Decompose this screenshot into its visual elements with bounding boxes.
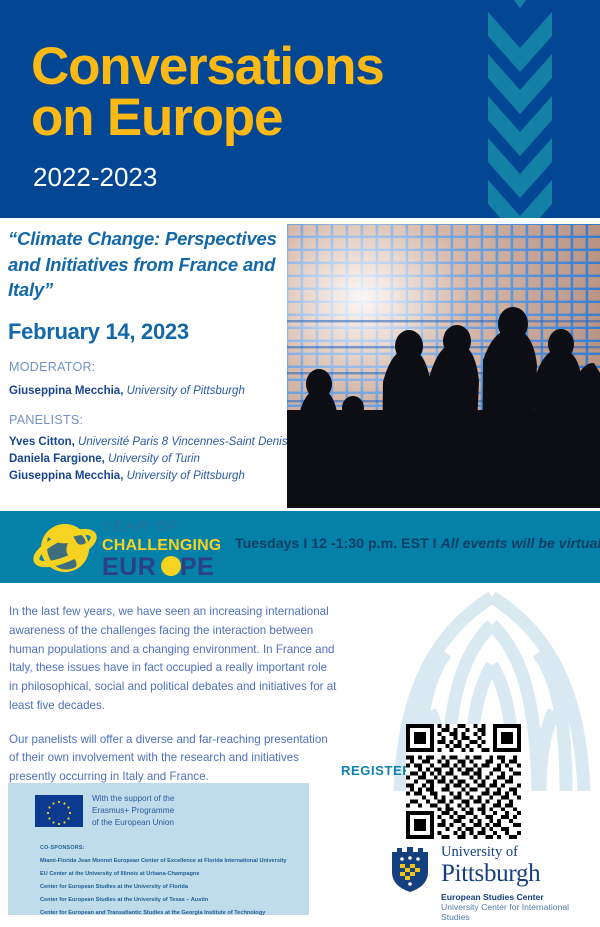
list-item: Giuseppina Mecchia, University of Pittsb… (9, 383, 245, 400)
list-item: Daniela Fargione, University of Turin (9, 451, 287, 468)
pitt-unit-primary: European Studies Center (441, 892, 544, 902)
pitt-shield-icon (389, 847, 431, 893)
paragraph-2: Our panelists will offer a diverse and f… (9, 731, 339, 787)
eu-support-text: With the support of the Erasmus+ Program… (92, 793, 174, 828)
moderator-label: MODERATOR: (9, 360, 96, 374)
pitt-university-of: University of (441, 845, 540, 860)
year-of-challenging-europe-logo: YEAR OF CHALLENGING EUR PE (32, 515, 220, 579)
event-title: “Climate Change: Perspectives and Initia… (8, 226, 288, 303)
description-text: In the last few years, we have seen an i… (9, 603, 339, 802)
event-photo (287, 224, 600, 508)
person-affiliation: Université Paris 8 Vincennes-Saint Denis (78, 436, 287, 448)
list-item: Center for European and Transatlantic St… (40, 907, 302, 920)
person-name: Giuseppina Mecchia, (9, 470, 123, 482)
schedule-note: All events will be virtual (441, 536, 600, 552)
event-title-block: “Climate Change: Perspectives and Initia… (8, 226, 288, 303)
eu-support-line: Erasmus+ Programme (92, 805, 174, 817)
person-name: Daniela Fargione, (9, 453, 105, 465)
schedule-text: Tuesdays I 12 -1:30 p.m. EST I All event… (235, 536, 600, 552)
list-item: Miami-Florida Jean Monnet European Cente… (40, 855, 302, 868)
photo-wall-graphic (287, 224, 600, 508)
person-affiliation: University of Pittsburgh (127, 470, 245, 482)
sponsors-panel: With the support of the Erasmus+ Program… (8, 783, 309, 915)
chevron-down-decoration (484, 0, 556, 218)
logo-line-3: EUR (102, 553, 156, 579)
european-union-flag-icon (35, 795, 83, 827)
person-affiliation: University of Pittsburgh (127, 385, 245, 397)
person-name: Giuseppina Mecchia, (9, 385, 123, 397)
schedule-banner: YEAR OF CHALLENGING EUR PE Tuesdays I 12… (0, 511, 600, 583)
list-item: Center for European Studies at the Unive… (40, 881, 302, 894)
person-name: Yves Citton, (9, 436, 75, 448)
moderator-list: Giuseppina Mecchia, University of Pittsb… (9, 383, 245, 400)
cosponsors-list: Miami-Florida Jean Monnet European Cente… (40, 855, 302, 920)
register-qr-code[interactable] (406, 724, 521, 839)
university-of-pittsburgh-logo: University of Pittsburgh European Studie… (389, 845, 595, 915)
event-date: February 14, 2023 (8, 319, 189, 345)
page-title: Conversations on Europe (31, 42, 471, 144)
logo-line-1: YEAR OF (102, 518, 179, 535)
list-item: Yves Citton, Université Paris 8 Vincenne… (9, 434, 287, 451)
paragraph-1: In the last few years, we have seen an i… (9, 603, 339, 716)
panelists-list: Yves Citton, Université Paris 8 Vincenne… (9, 434, 287, 485)
svg-text:PE: PE (180, 553, 214, 579)
pitt-unit-secondary: University Center for International Stud… (441, 902, 595, 922)
list-item: Center for European Studies at the Unive… (40, 894, 302, 907)
register-label: REGISTER (341, 763, 412, 778)
season-years: 2022-2023 (33, 162, 157, 193)
title-line-2: on Europe (31, 93, 471, 144)
panelists-label: PANELISTS: (9, 413, 83, 427)
schedule-bold: Tuesdays I 12 -1:30 p.m. EST I (235, 536, 441, 552)
list-item: Giuseppina Mecchia, University of Pittsb… (9, 468, 287, 485)
event-details-section: “Climate Change: Perspectives and Initia… (0, 218, 600, 508)
eu-support-line: With the support of the (92, 793, 174, 805)
logo-line-2: CHALLENGING (102, 537, 220, 554)
poster-header: Conversations on Europe 2022-2023 (0, 0, 600, 218)
pitt-wordmark: University of Pittsburgh (441, 845, 540, 886)
person-affiliation: University of Turin (108, 453, 200, 465)
pitt-pittsburgh: Pittsburgh (441, 861, 540, 886)
cosponsors-label: CO-SPONSORS: (40, 845, 85, 851)
poster: Conversations on Europe 2022-2023 “Clima… (0, 0, 600, 927)
list-item: EU Center at the University of Illinois … (40, 868, 302, 881)
eu-support-line: of the European Union (92, 817, 174, 829)
